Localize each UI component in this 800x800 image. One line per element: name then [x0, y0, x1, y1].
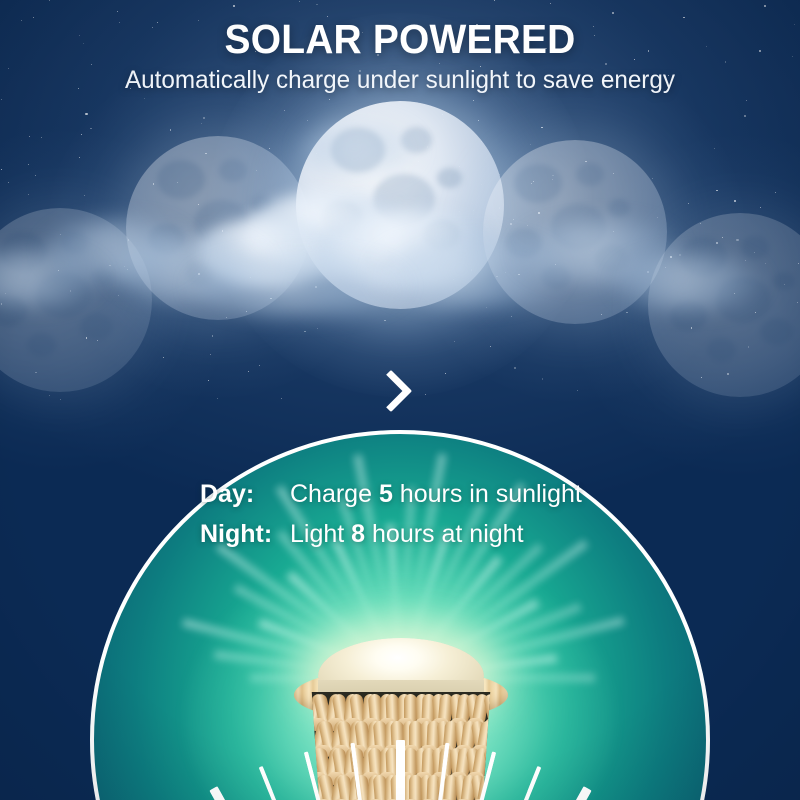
cloud-icon — [615, 255, 765, 309]
spec-label-night: Night: — [200, 520, 290, 549]
arrow-right-icon — [372, 372, 418, 418]
cloud-icon — [300, 125, 420, 175]
spec-row-night: Night: Light 8 hours at night — [200, 520, 582, 549]
spec-value-day: Charge 5 hours in sunlight — [290, 480, 582, 509]
spec-label-day: Day: — [200, 480, 290, 509]
page-title: SOLAR POWERED — [20, 16, 780, 63]
infographic-canvas: SOLAR POWERED Automatically charge under… — [0, 0, 800, 800]
spec-number-day: 5 — [379, 480, 393, 508]
page-subtitle: Automatically charge under sunlight to s… — [12, 66, 788, 95]
spec-number-night: 8 — [351, 520, 365, 548]
dial-tick-major — [396, 740, 405, 800]
cloud-icon — [190, 257, 410, 315]
spec-value-night: Light 8 hours at night — [290, 520, 524, 549]
spec-list: Day: Charge 5 hours in sunlight Night: L… — [200, 480, 582, 560]
spec-row-day: Day: Charge 5 hours in sunlight — [200, 480, 582, 509]
